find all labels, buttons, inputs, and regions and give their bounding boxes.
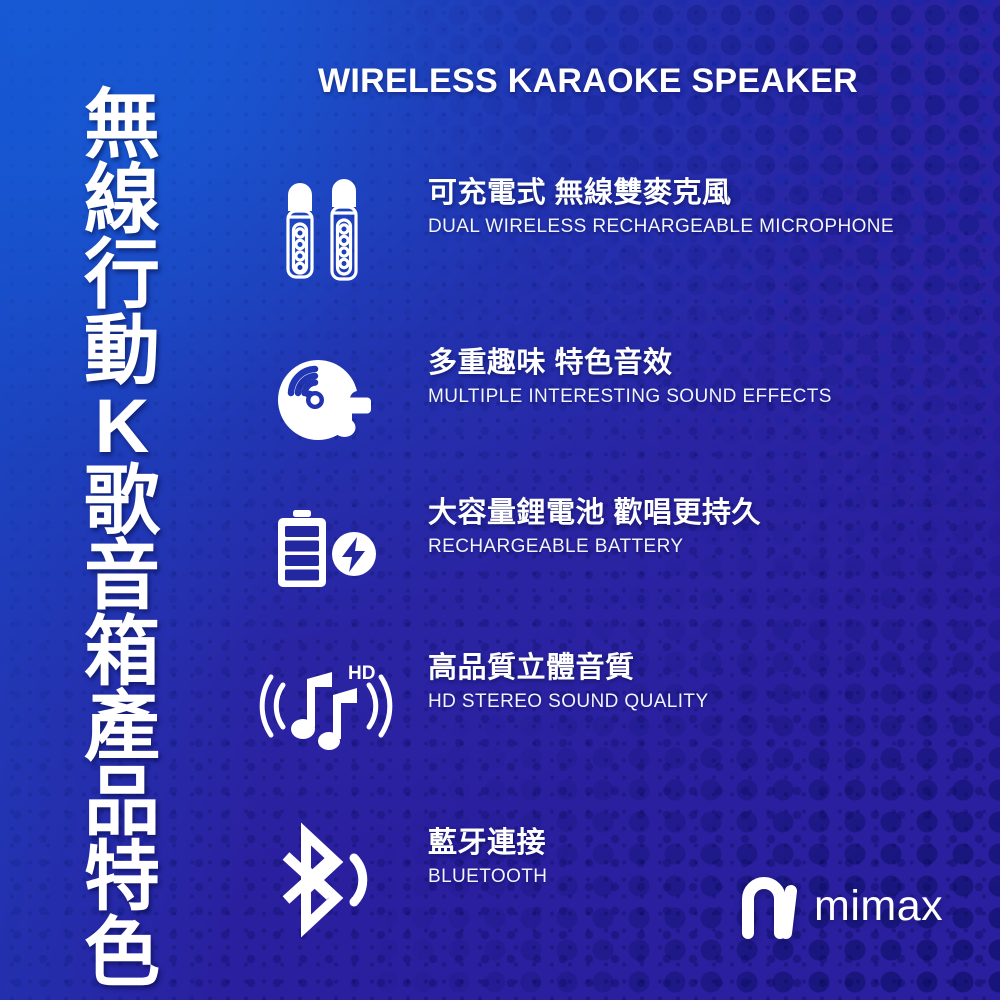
vertical-headline-char: 品 [84, 765, 160, 840]
feature-text-block: 多重趣味 特色音效 MULTIPLE INTERESTING SOUND EFF… [428, 345, 968, 408]
battery-charge-icon [262, 495, 390, 605]
feature-text-block: 高品質立體音質 HD STEREO SOUND QUALITY [428, 650, 968, 713]
vertical-headline-char: 音 [84, 539, 160, 614]
feature-row-microphone: 可充電式 無線雙麥克風 DUAL WIRELESS RECHARGEABLE M… [262, 175, 962, 285]
vertical-headline-char: 箱 [84, 615, 160, 690]
disc-music-note-icon [262, 345, 390, 455]
vertical-headline-char: 色 [84, 916, 160, 991]
hd-badge-label: HD [348, 663, 375, 684]
page-title: WIRELESS KARAOKE SPEAKER [318, 62, 858, 101]
poster-canvas: 無線行動K歌音箱產品特色 WIRELESS KARAOKE SPEAKER [0, 0, 1000, 1000]
hd-music-notes-icon: HD [262, 650, 390, 760]
feature-title-cn: 藍牙連接 [428, 825, 968, 861]
vertical-headline-char: 線 [84, 163, 160, 238]
vertical-headline-char: 歌 [84, 464, 160, 539]
brand-wordmark: mimax [814, 885, 943, 928]
feature-title-cn: 可充電式 無線雙麥克風 [428, 175, 968, 211]
feature-title-cn: 高品質立體音質 [428, 650, 968, 686]
feature-title-cn: 大容量鋰電池 歡唱更持久 [428, 495, 968, 531]
feature-title-en: MULTIPLE INTERESTING SOUND EFFECTS [428, 386, 968, 408]
vertical-headline-char: 行 [84, 238, 160, 313]
feature-row-hd-stereo: HD 高品質立體音質 HD STEREO SOUND QUALITY [262, 650, 962, 760]
feature-title-en: HD STEREO SOUND QUALITY [428, 691, 968, 713]
feature-title-en: RECHARGEABLE BATTERY [428, 536, 968, 558]
feature-title-cn: 多重趣味 特色音效 [428, 345, 968, 381]
feature-text-block: 大容量鋰電池 歡唱更持久 RECHARGEABLE BATTERY [428, 495, 968, 558]
feature-text-block: 可充電式 無線雙麥克風 DUAL WIRELESS RECHARGEABLE M… [428, 175, 968, 238]
dual-microphone-icon [262, 175, 390, 285]
vertical-headline-char: 動 [84, 314, 160, 389]
vertical-headline-char: K [95, 389, 150, 464]
feature-row-sound-effects: 多重趣味 特色音效 MULTIPLE INTERESTING SOUND EFF… [262, 345, 962, 455]
brand-logo: mimax [742, 876, 943, 936]
vertical-headline: 無線行動K歌音箱產品特色 [72, 88, 172, 968]
mimax-m-logo-icon [742, 877, 804, 935]
vertical-headline-char: 產 [84, 690, 160, 765]
vertical-headline-char: 特 [84, 840, 160, 915]
feature-row-battery: 大容量鋰電池 歡唱更持久 RECHARGEABLE BATTERY [262, 495, 962, 605]
bluetooth-icon [262, 825, 390, 935]
vertical-headline-char: 無 [84, 88, 160, 163]
feature-title-en: DUAL WIRELESS RECHARGEABLE MICROPHONE [428, 216, 968, 238]
